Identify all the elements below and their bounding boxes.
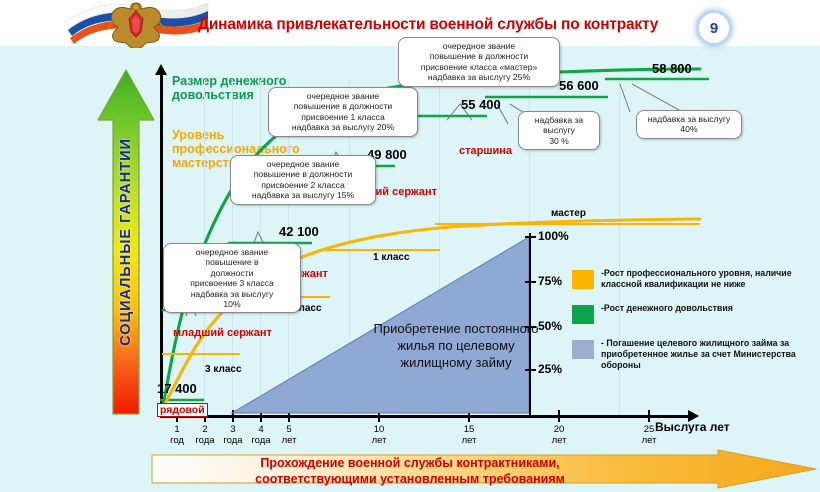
x-tick-label-10: 10 лет: [362, 424, 396, 446]
callout-10-line-3: должности: [168, 268, 296, 278]
legend-text-housing: - Погашение целевого жилищного займа за …: [601, 338, 812, 372]
x-tick-unit-5: лет: [272, 435, 306, 446]
callout-25-line-4: надбавка за выслугу 25%: [403, 72, 555, 82]
class-label-1: 1 класс: [373, 252, 410, 263]
callout-25-line-1: очередное звание: [403, 41, 555, 51]
callout-15-percent: очередное звание повышение в должности п…: [230, 155, 376, 205]
callout-20-line-4: надбавка за выслугу 20%: [273, 122, 413, 132]
x-tick-num-5: 5: [272, 424, 306, 435]
pay-value-55400: 55 400: [461, 97, 501, 112]
pay-value-42100: 42 100: [279, 224, 319, 239]
rank-label-ryadovoy: рядовой: [157, 403, 208, 417]
callout-30-line-2: выслугу: [523, 125, 595, 135]
pay-value-56600: 56 600: [559, 78, 599, 93]
legend-item-professional: -Рост профессионального уровня, наличие …: [572, 268, 812, 294]
callout-15-line-3: присвоение 2 класса: [235, 180, 371, 190]
percent-label-100: 100%: [538, 229, 569, 243]
x-tick-label-15: 15 лет: [452, 424, 486, 446]
x-tick-num-15: 15: [452, 424, 486, 435]
callout-40-line-2: 40%: [641, 124, 737, 134]
slide-root: Динамика привлекательности военной служб…: [0, 0, 820, 492]
x-tick-label-5: 5 лет: [272, 424, 306, 446]
callout-10-line-2: повышение в: [168, 257, 296, 267]
x-axis-label: Выслуга лет: [655, 420, 730, 434]
callout-10-line-6: 10%: [168, 299, 296, 309]
percent-tick-100: [525, 236, 536, 238]
bottom-banner-line-2: соответствующими установленным требовани…: [200, 471, 620, 487]
callout-15-line-4: надбавка за выслугу 15%: [235, 190, 371, 200]
x-tick-label-20: 20 лет: [542, 424, 576, 446]
callout-20-line-3: присвоение 1 класса: [273, 112, 413, 122]
callout-15-line-2: повышение в должности: [235, 169, 371, 179]
x-tick-3: [232, 410, 234, 422]
legend-swatch-housing: [572, 340, 594, 359]
pay-value-58800: 58 800: [652, 61, 692, 76]
class-label-3: 3 класс: [205, 364, 242, 375]
x-tick-15: [468, 410, 470, 422]
bottom-banner-text: Прохождение военной службы контрактникам…: [200, 455, 620, 487]
bottom-banner-line-1: Прохождение военной службы контрактникам…: [200, 455, 620, 471]
rank-label-mladshiy-serzhant: младший сержант: [173, 327, 272, 339]
percent-label-75: 75%: [538, 274, 562, 288]
percent-tick-75: [525, 281, 536, 283]
x-axis: [160, 415, 690, 418]
callout-20-line-2: повышение в должности: [273, 101, 413, 111]
x-tick-unit-20: лет: [542, 435, 576, 446]
callout-10-line-4: присвоение 3 класса: [168, 278, 296, 288]
legend-text-pay: -Рост денежного довольствия: [601, 303, 812, 314]
callout-10-line-5: надбавка за выслугу: [168, 289, 296, 299]
x-tick-25: [648, 410, 650, 422]
callout-30-line-1: надбавка за: [523, 115, 595, 125]
callout-25-line-3: присвоение класса «мастер»: [403, 62, 555, 72]
chart-legend: -Рост профессионального уровня, наличие …: [572, 268, 812, 381]
rank-label-starshina: старшина: [459, 145, 512, 157]
x-tick-4: [260, 410, 262, 422]
legend-text-professional: -Рост профессионального уровня, наличие …: [601, 268, 812, 290]
y-axis-arrowhead: [155, 64, 167, 75]
x-tick-unit-15: лет: [452, 435, 486, 446]
x-tick-20: [558, 410, 560, 422]
callout-30-line-3: 30 %: [523, 136, 595, 146]
x-tick-num-20: 20: [542, 424, 576, 435]
x-tick-label-25: 25 лет: [632, 424, 666, 446]
social-guarantees-arrow: [96, 68, 156, 416]
callout-10-line-1: очередное звание: [168, 247, 296, 257]
legend-swatch-pay: [572, 305, 594, 324]
x-tick-5: [288, 410, 290, 422]
callout-25-line-2: повышение в должности: [403, 51, 555, 61]
page-number-badge: 9: [696, 10, 732, 46]
callout-20-line-1: очередное звание: [273, 91, 413, 101]
pay-value-17400: 17 400: [157, 381, 197, 396]
legend-item-housing: - Погашение целевого жилищного займа за …: [572, 338, 812, 372]
housing-loan-text: Приобретение постоянного жилья по целево…: [366, 320, 546, 371]
class-label-master: мастер: [551, 208, 586, 219]
y-axis: [160, 72, 163, 417]
x-tick-num-10: 10: [362, 424, 396, 435]
callout-10-percent: очередное звание повышение в должности п…: [163, 243, 301, 313]
russian-mod-emblem-icon: [62, 0, 210, 48]
x-tick-num-25: 25: [632, 424, 666, 435]
callout-15-line-1: очередное звание: [235, 159, 371, 169]
callout-40-percent: надбавка за выслугу 40%: [636, 110, 742, 139]
x-tick-unit-25: лет: [632, 435, 666, 446]
x-tick-unit-10: лет: [362, 435, 396, 446]
callout-30-percent: надбавка за выслугу 30 %: [518, 111, 600, 150]
x-tick-10: [378, 410, 380, 422]
callout-20-percent: очередное звание повышение в должности п…: [268, 87, 418, 137]
legend-swatch-professional: [572, 270, 594, 289]
page-title: Динамика привлекательности военной служб…: [198, 16, 698, 34]
legend-item-pay: -Рост денежного довольствия: [572, 303, 812, 329]
callout-25-percent: очередное звание повышение в должности п…: [398, 37, 560, 87]
callout-40-line-1: надбавка за выслугу: [641, 114, 737, 124]
